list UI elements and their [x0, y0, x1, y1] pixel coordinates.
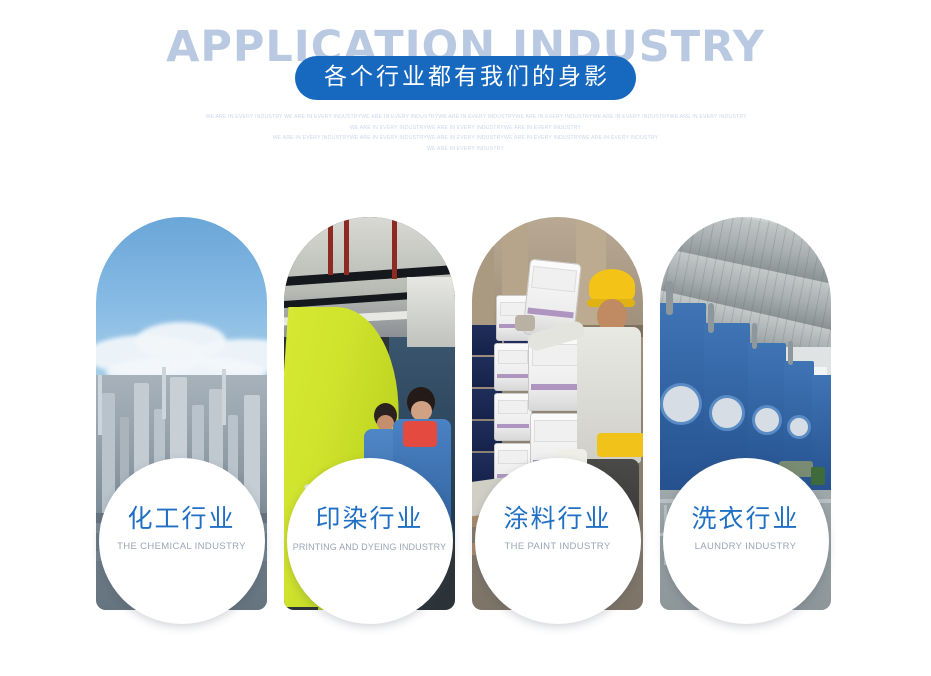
card-label-paint: 涂料行业 THE PAINT INDUSTRY	[475, 458, 641, 624]
card-label-laundry: 洗衣行业 LAUNDRY INDUSTRY	[663, 458, 829, 624]
headline-pill: 各个行业都有我们的身影	[295, 56, 636, 100]
card-label-cn: 印染行业	[315, 504, 423, 534]
microcopy-line-2: WE ARE IN EVERY INDUSTRYWE ARE IN EVERY …	[206, 123, 726, 134]
card-label-en: PRINTING AND DYEING INDUSTRY	[293, 541, 447, 553]
industry-card-chemical[interactable]: 化工行业 THE CHEMICAL INDUSTRY	[96, 217, 267, 610]
microcopy-line-3: WE ARE IN EVERY INDUSTRYWE ARE IN EVERY …	[206, 133, 726, 144]
microcopy-line-4: WE ARE IN EVERY INDUSTRY	[206, 144, 726, 155]
microcopy-block: WE ARE IN EVERY INDUSTRY WE ARE IN EVERY…	[206, 112, 726, 154]
industry-card-paint[interactable]: 涂料行业 THE PAINT INDUSTRY	[472, 217, 643, 610]
card-label-cn: 化工行业	[127, 504, 235, 534]
industry-card-laundry[interactable]: 洗衣行业 LAUNDRY INDUSTRY	[660, 217, 831, 610]
card-label-printing-dyeing: 印染行业 PRINTING AND DYEING INDUSTRY	[287, 458, 453, 624]
headline-pill-wrap: 各个行业都有我们的身影	[0, 56, 931, 100]
card-label-en: THE CHEMICAL INDUSTRY	[117, 541, 246, 553]
card-label-chemical: 化工行业 THE CHEMICAL INDUSTRY	[99, 458, 265, 624]
card-label-cn: 洗衣行业	[691, 504, 799, 534]
card-label-en: THE PAINT INDUSTRY	[504, 541, 610, 553]
industry-card-printing-dyeing[interactable]: 印染行业 PRINTING AND DYEING INDUSTRY	[284, 217, 455, 610]
card-label-cn: 涂料行业	[503, 504, 611, 534]
industry-card-list: 化工行业 THE CHEMICAL INDUSTRY	[96, 217, 836, 612]
microcopy-line-1: WE ARE IN EVERY INDUSTRY WE ARE IN EVERY…	[206, 112, 726, 123]
card-label-en: LAUNDRY INDUSTRY	[695, 541, 797, 553]
page-header: APPLICATION INDUSTRY 各个行业都有我们的身影 WE ARE …	[0, 0, 931, 175]
